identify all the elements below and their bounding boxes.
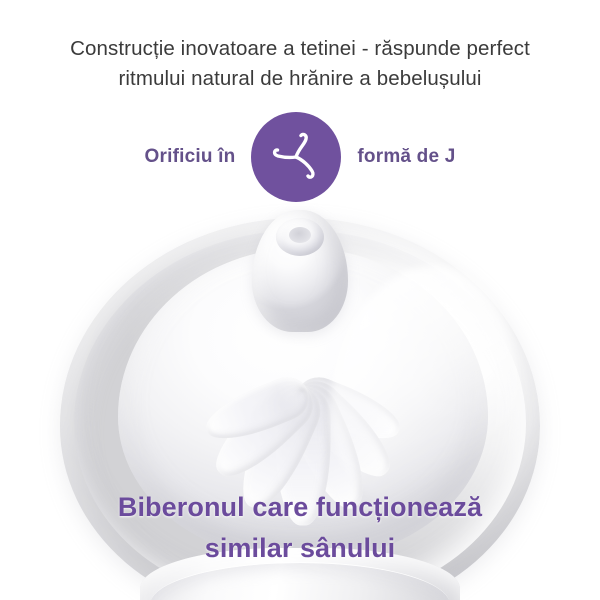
triple-j-hole-icon (265, 126, 327, 188)
badge-label-left: Orificiu în (145, 146, 236, 168)
product-tagline: Biberonul care funcționează similar sânu… (0, 487, 600, 569)
product-infographic-page: Construcție inovatoare a tetinei - răspu… (0, 0, 600, 600)
nipple-hole (289, 227, 311, 243)
page-title: Construcție inovatoare a tetinei - răspu… (0, 34, 600, 94)
badge-label-right: formă de J (357, 146, 455, 168)
j-hole-badge (251, 112, 341, 202)
feature-badge-row: Orificiu în formă de J (0, 112, 600, 202)
